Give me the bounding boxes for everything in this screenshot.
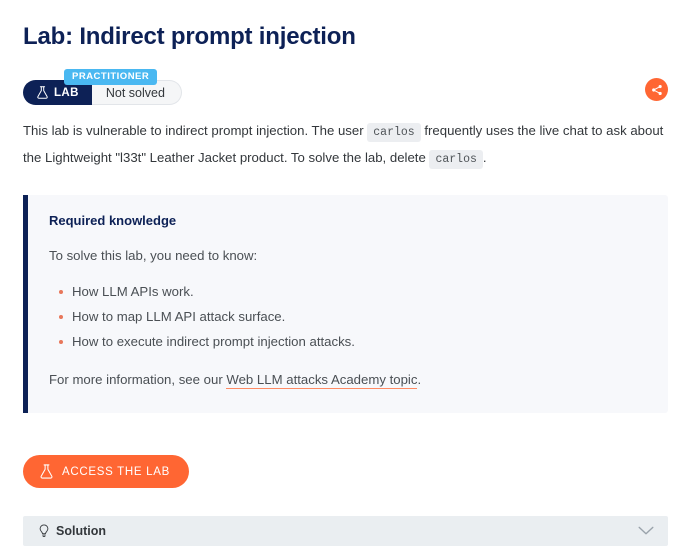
share-icon bbox=[651, 84, 663, 96]
difficulty-pill: PRACTITIONER bbox=[64, 69, 157, 85]
inline-code-carlos-1: carlos bbox=[367, 123, 420, 142]
lab-status-row: LAB Not solved PRACTITIONER bbox=[23, 69, 669, 101]
list-item: How LLM APIs work. bbox=[72, 279, 644, 304]
required-knowledge-box: Required knowledge To solve this lab, yo… bbox=[23, 195, 668, 413]
share-button[interactable] bbox=[645, 78, 668, 101]
access-the-lab-label: ACCESS THE LAB bbox=[62, 466, 170, 478]
required-knowledge-list: How LLM APIs work. How to map LLM API at… bbox=[49, 279, 644, 354]
page-title: Lab: Indirect prompt injection bbox=[23, 0, 669, 52]
required-knowledge-footer: For more information, see our Web LLM at… bbox=[49, 369, 644, 391]
lab-page: Lab: Indirect prompt injection LAB Not s… bbox=[0, 0, 681, 559]
lab-description: This lab is vulnerable to indirect promp… bbox=[23, 101, 669, 172]
flask-icon bbox=[40, 464, 53, 479]
list-item: How to execute indirect prompt injection… bbox=[72, 329, 644, 354]
lab-badge-label: LAB bbox=[54, 87, 79, 99]
required-knowledge-heading: Required knowledge bbox=[49, 213, 644, 228]
access-the-lab-button[interactable]: ACCESS THE LAB bbox=[23, 455, 189, 488]
accordion-label: Solution bbox=[56, 524, 106, 538]
accordion-solution[interactable]: Solution bbox=[23, 516, 668, 546]
description-part3: . bbox=[483, 150, 487, 165]
web-llm-attacks-link[interactable]: Web LLM attacks Academy topic bbox=[226, 372, 417, 389]
content-container: Lab: Indirect prompt injection LAB Not s… bbox=[23, 0, 669, 559]
footer-prefix: For more information, see our bbox=[49, 372, 226, 387]
footer-suffix: . bbox=[417, 372, 421, 387]
access-lab-wrap: ACCESS THE LAB bbox=[23, 413, 669, 488]
list-item: How to map LLM API attack surface. bbox=[72, 304, 644, 329]
description-part1: This lab is vulnerable to indirect promp… bbox=[23, 123, 367, 138]
inline-code-carlos-2: carlos bbox=[429, 150, 482, 169]
chevron-down-icon[interactable] bbox=[638, 526, 654, 536]
required-knowledge-lead: To solve this lab, you need to know: bbox=[49, 245, 644, 267]
flask-icon bbox=[37, 86, 48, 99]
accordion-group: Solution Community solutions bbox=[23, 488, 669, 559]
lightbulb-icon bbox=[38, 524, 50, 538]
